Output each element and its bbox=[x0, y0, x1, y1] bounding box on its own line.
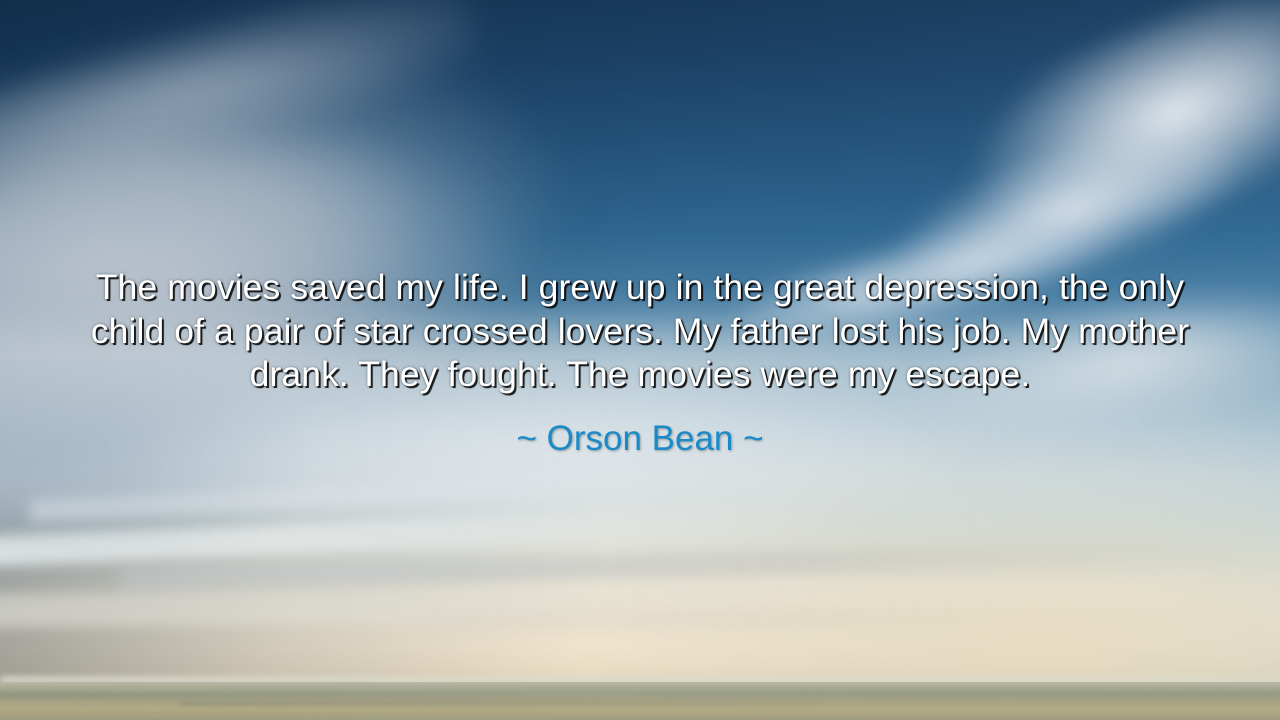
quote-text-layer: The movies saved my life. I grew up in t… bbox=[0, 0, 1280, 720]
quote-body-text: The movies saved my life. I grew up in t… bbox=[58, 266, 1222, 397]
quote-author-attribution: ~ Orson Bean ~ bbox=[516, 419, 763, 459]
quote-image-canvas: The movies saved my life. I grew up in t… bbox=[0, 0, 1280, 720]
